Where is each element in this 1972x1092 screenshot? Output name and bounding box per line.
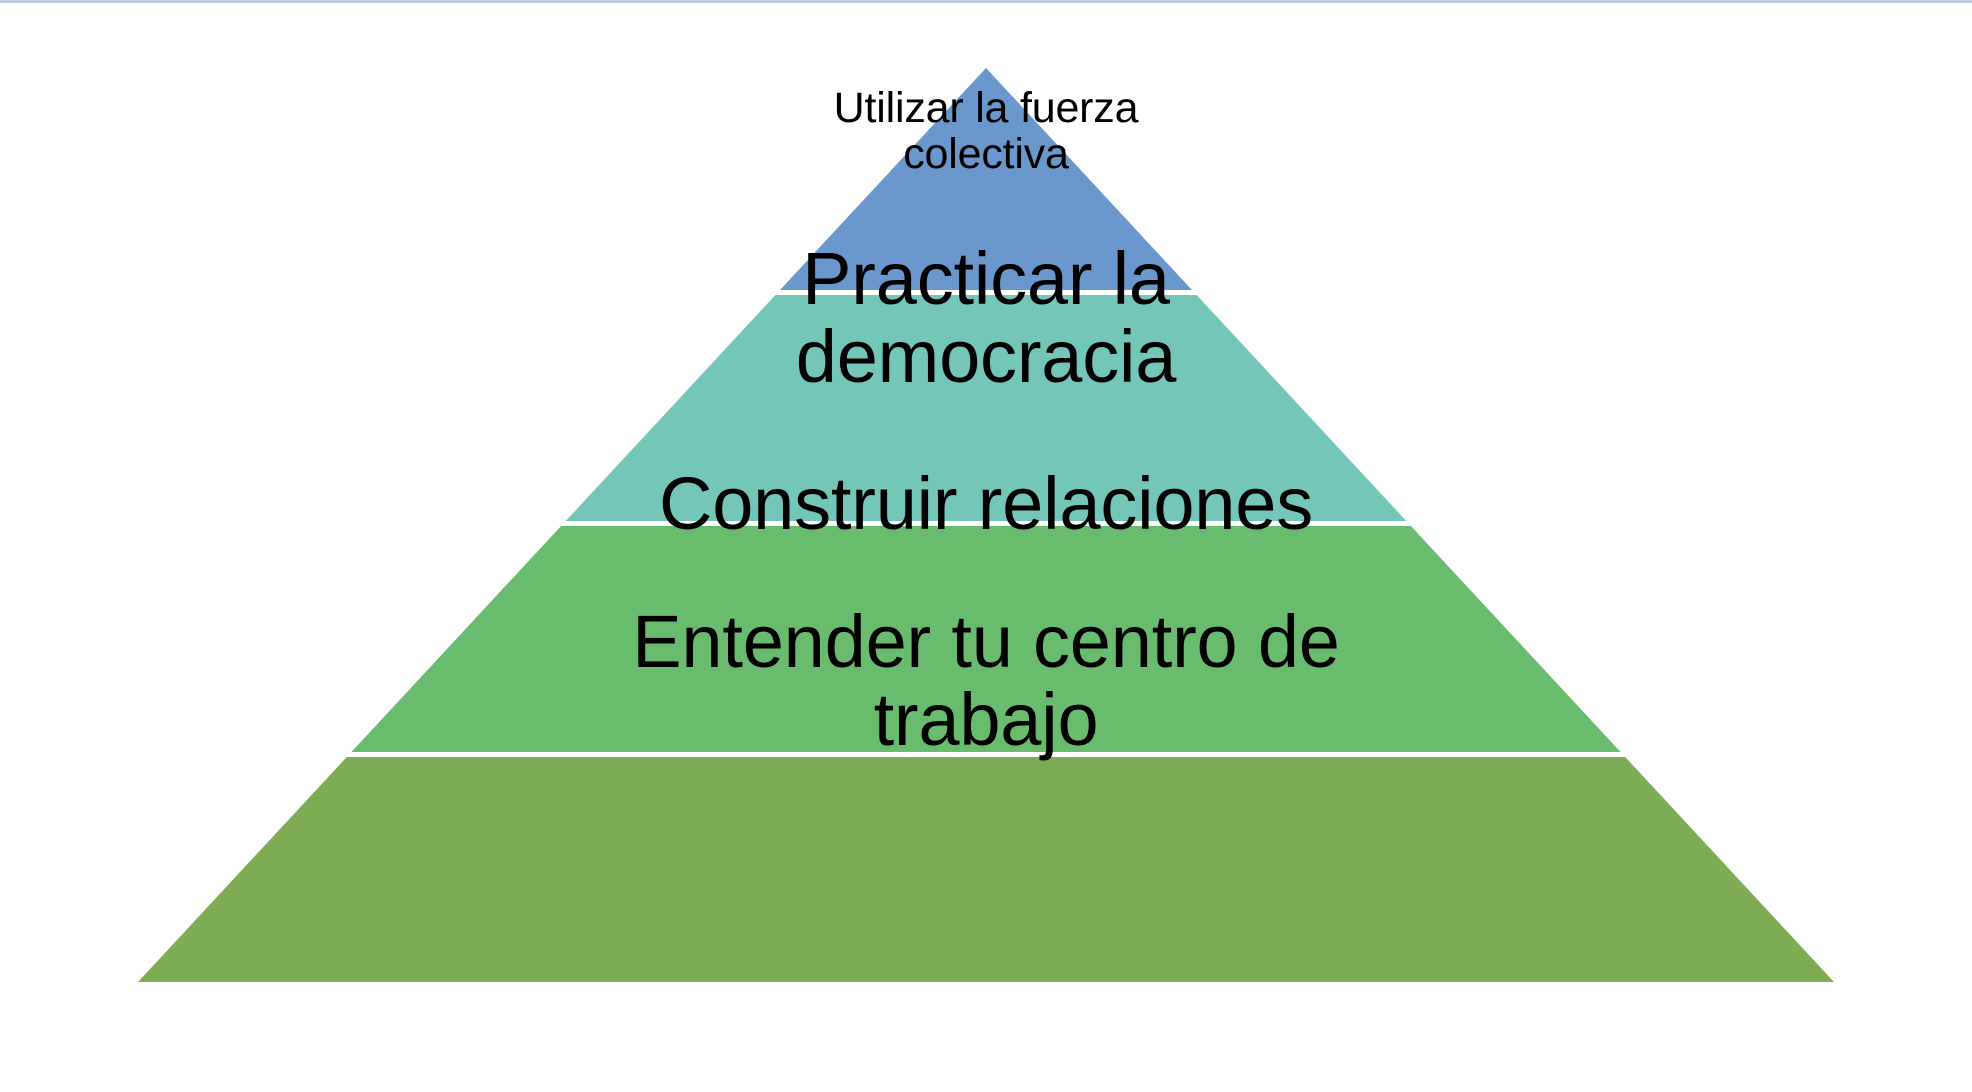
pyramid-tier-4-shape[interactable] [138, 757, 1834, 982]
pyramid-tier-1-shape[interactable] [780, 68, 1192, 290]
slide-canvas: Utilizar la fuerza colectiva Practicar l… [0, 0, 1972, 1092]
pyramid-tier-2-shape[interactable] [566, 295, 1407, 521]
pyramid-diagram[interactable] [0, 0, 1972, 1092]
pyramid-tier-3-shape[interactable] [351, 526, 1620, 752]
